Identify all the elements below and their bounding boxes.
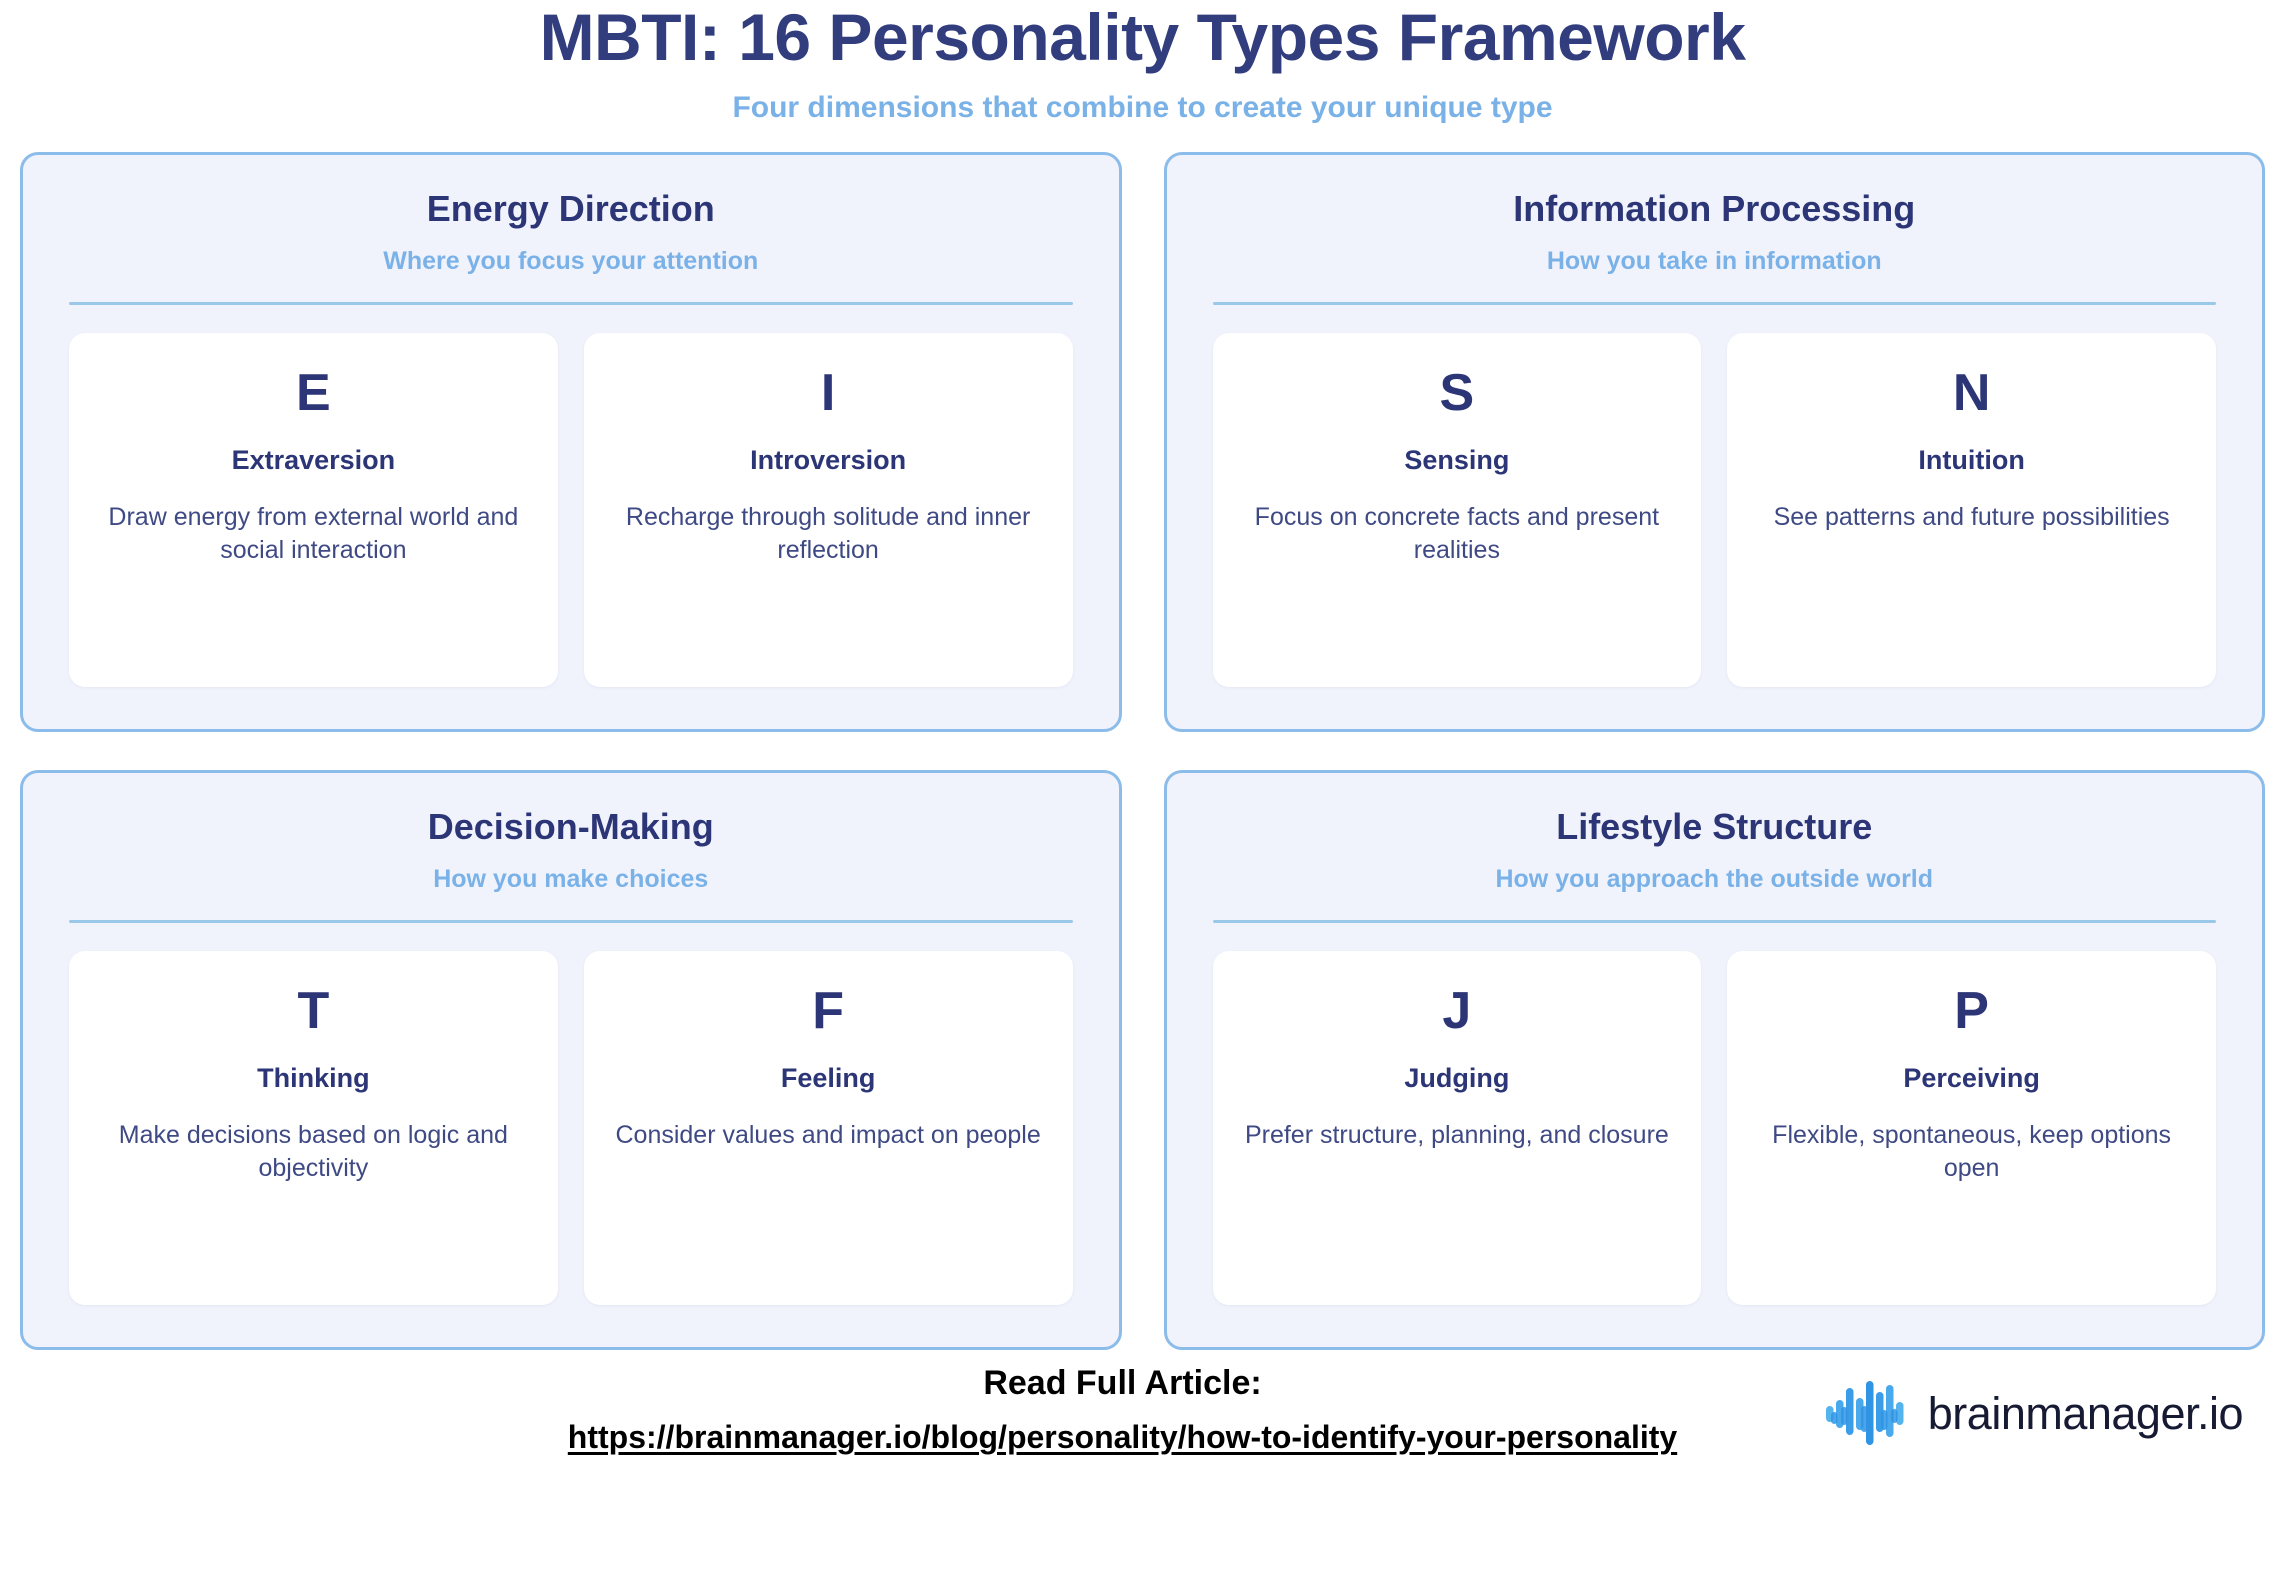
trait-card-f: F Feeling Consider values and impact on …	[584, 951, 1073, 1305]
brand-logo: brainmanager.io	[1824, 1376, 2243, 1450]
trait-card-s: S Sensing Focus on concrete facts and pr…	[1213, 333, 1702, 687]
dimension-subtitle: How you take in information	[1213, 248, 2217, 276]
trait-pair: S Sensing Focus on concrete facts and pr…	[1213, 333, 2217, 687]
dimension-subtitle: Where you focus your attention	[69, 248, 1073, 276]
trait-letter: N	[1953, 367, 1991, 419]
dimension-title: Lifestyle Structure	[1213, 807, 2217, 847]
dimension-card-information-processing: Information Processing How you take in i…	[1164, 152, 2266, 732]
trait-pair: E Extraversion Draw energy from external…	[69, 333, 1073, 687]
trait-name: Sensing	[1404, 446, 1509, 476]
brand-name-text: brainmanager.io	[1928, 1391, 2243, 1436]
trait-card-e: E Extraversion Draw energy from external…	[69, 333, 558, 687]
brain-waveform-icon	[1824, 1376, 1910, 1450]
infographic-page: MBTI: 16 Personality Types Framework Fou…	[0, 0, 2285, 1583]
dimension-title: Decision-Making	[69, 807, 1073, 847]
trait-description: Consider values and impact on people	[615, 1119, 1040, 1152]
trait-letter: J	[1442, 985, 1471, 1037]
article-url-link[interactable]: https://brainmanager.io/blog/personality…	[568, 1419, 1677, 1456]
read-full-article-label: Read Full Article:	[568, 1364, 1677, 1403]
trait-letter: I	[821, 367, 835, 419]
trait-card-j: J Judging Prefer structure, planning, an…	[1213, 951, 1702, 1305]
trait-name: Extraversion	[232, 446, 396, 476]
trait-letter: T	[297, 985, 329, 1037]
trait-card-n: N Intuition See patterns and future poss…	[1727, 333, 2216, 687]
trait-description: Make decisions based on logic and object…	[98, 1119, 528, 1186]
trait-description: Focus on concrete facts and present real…	[1242, 501, 1672, 568]
trait-name: Thinking	[257, 1064, 369, 1094]
trait-letter: P	[1954, 985, 1989, 1037]
trait-name: Perceiving	[1903, 1064, 2040, 1094]
dimension-divider	[1213, 302, 2217, 305]
dimension-divider	[1213, 920, 2217, 923]
dimension-grid: Energy Direction Where you focus your at…	[16, 152, 2269, 1350]
trait-letter: S	[1440, 367, 1475, 419]
page-header: MBTI: 16 Personality Types Framework Fou…	[16, 0, 2269, 124]
dimension-card-decision-making: Decision-Making How you make choices T T…	[20, 770, 1122, 1350]
trait-pair: J Judging Prefer structure, planning, an…	[1213, 951, 2217, 1305]
dimension-subtitle: How you approach the outside world	[1213, 866, 2217, 894]
dimension-divider	[69, 302, 1073, 305]
dimension-subtitle: How you make choices	[69, 866, 1073, 894]
trait-name: Introversion	[750, 446, 906, 476]
trait-name: Judging	[1404, 1064, 1509, 1094]
trait-card-i: I Introversion Recharge through solitude…	[584, 333, 1073, 687]
dimension-card-lifestyle-structure: Lifestyle Structure How you approach the…	[1164, 770, 2266, 1350]
trait-description: Draw energy from external world and soci…	[98, 501, 528, 568]
trait-description: See patterns and future possibilities	[1774, 501, 2170, 534]
trait-card-p: P Perceiving Flexible, spontaneous, keep…	[1727, 951, 2216, 1305]
dimension-title: Information Processing	[1213, 189, 2217, 229]
page-subtitle: Four dimensions that combine to create y…	[16, 91, 2269, 124]
dimension-title: Energy Direction	[69, 189, 1073, 229]
dimension-divider	[69, 920, 1073, 923]
trait-description: Recharge through solitude and inner refl…	[613, 501, 1043, 568]
trait-description: Prefer structure, planning, and closure	[1245, 1119, 1669, 1152]
page-title: MBTI: 16 Personality Types Framework	[16, 2, 2269, 73]
trait-name: Intuition	[1918, 446, 2024, 476]
trait-letter: F	[812, 985, 844, 1037]
read-full-article-block: Read Full Article: https://brainmanager.…	[568, 1364, 1677, 1456]
trait-card-t: T Thinking Make decisions based on logic…	[69, 951, 558, 1305]
dimension-card-energy-direction: Energy Direction Where you focus your at…	[20, 152, 1122, 732]
trait-pair: T Thinking Make decisions based on logic…	[69, 951, 1073, 1305]
trait-description: Flexible, spontaneous, keep options open	[1757, 1119, 2187, 1186]
trait-letter: E	[296, 367, 331, 419]
page-footer: Read Full Article: https://brainmanager.…	[16, 1350, 2269, 1583]
trait-name: Feeling	[781, 1064, 876, 1094]
